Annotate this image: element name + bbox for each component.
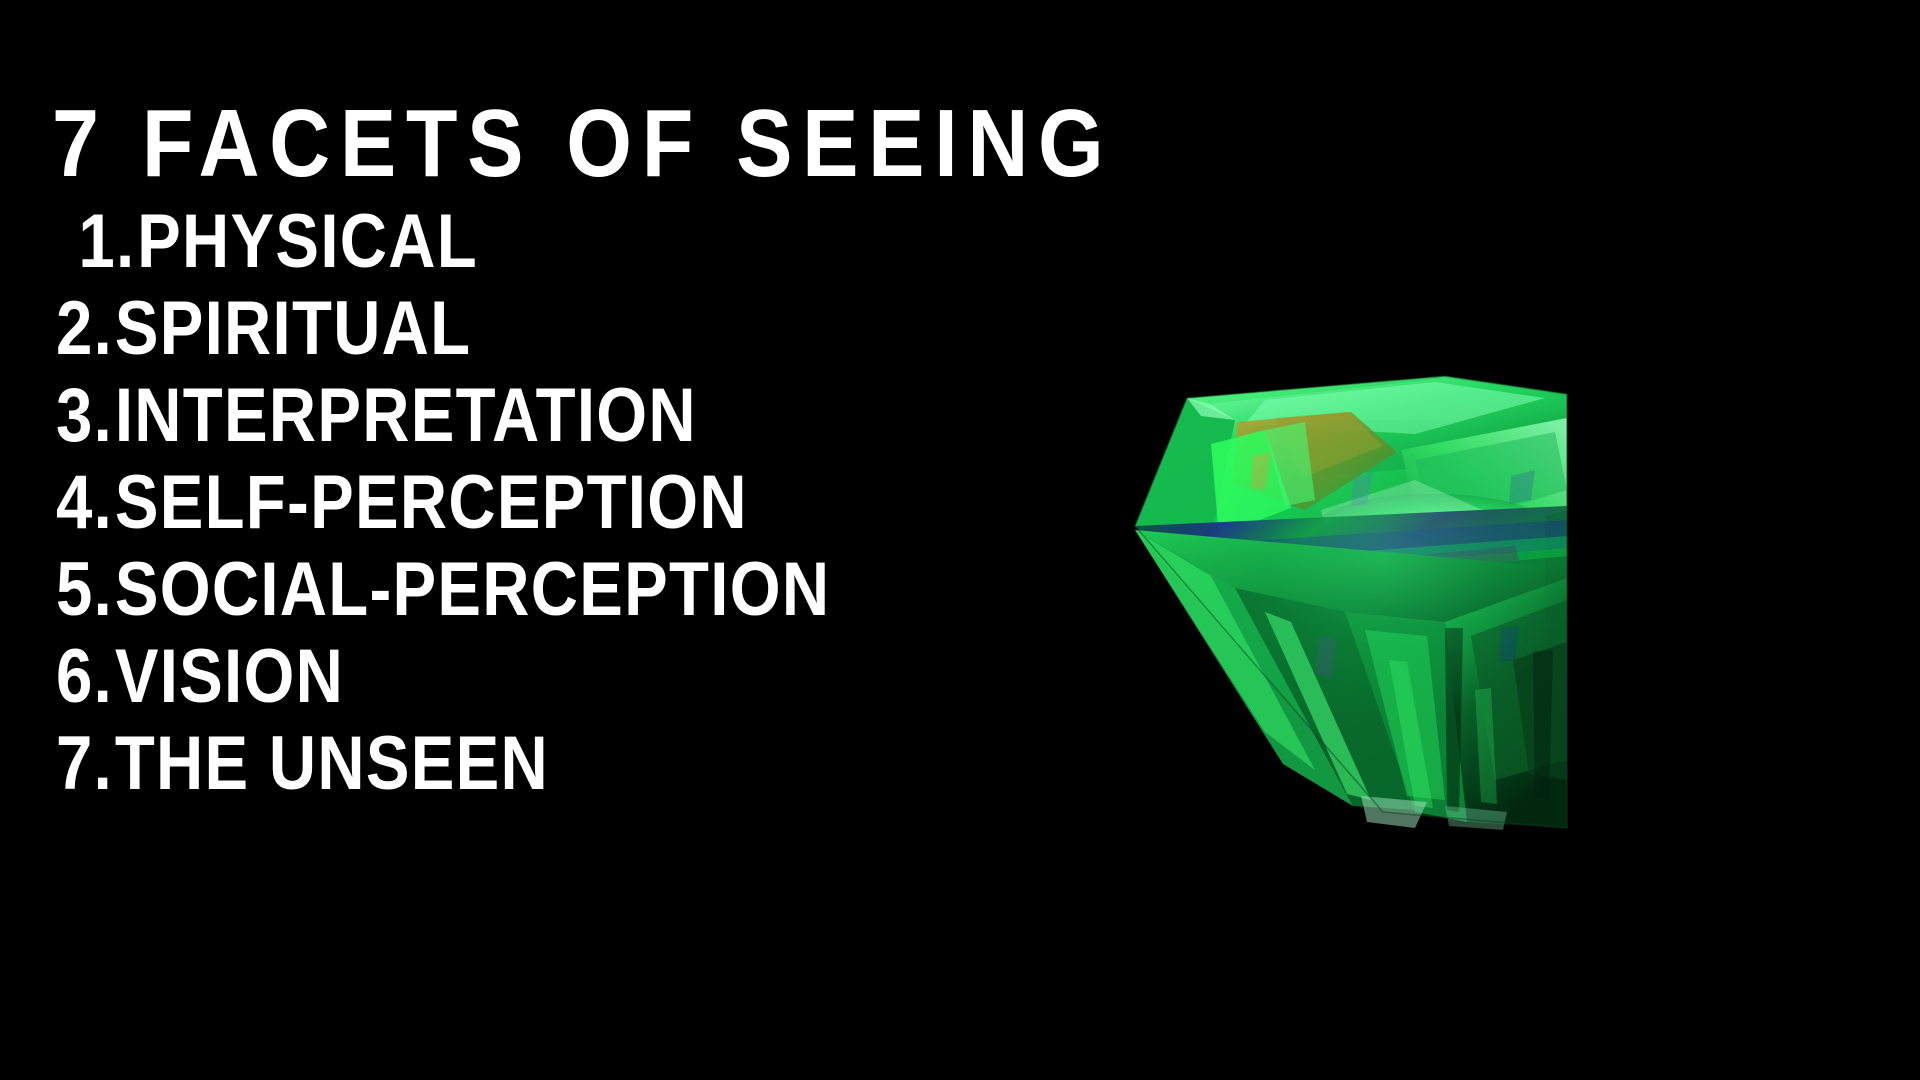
list-item-label: VISION: [115, 633, 344, 720]
page-title: 7 FACETS OF SEEING: [52, 94, 1113, 195]
list-item-label: SOCIAL-PERCEPTION: [115, 546, 831, 633]
list-item-label: PHYSICAL: [137, 198, 478, 285]
list-item-number: 2.: [56, 285, 113, 372]
gem-pavilion: [1135, 530, 1567, 830]
list-item-number: 1.: [78, 198, 135, 285]
list-item-label: INTERPRETATION: [115, 372, 697, 459]
list-item: 7. THE UNSEEN: [56, 720, 830, 807]
list-item: 1. PHYSICAL: [56, 198, 830, 285]
list-item: 3. INTERPRETATION: [56, 372, 830, 459]
list-item-label: THE UNSEEN: [115, 720, 549, 807]
list-item: 5. SOCIAL-PERCEPTION: [56, 546, 830, 633]
slide-canvas: 7 FACETS OF SEEING 1. PHYSICAL 2. SPIRIT…: [0, 0, 1920, 1080]
list-item-label: SPIRITUAL: [115, 285, 472, 372]
list-item-number: 5.: [56, 546, 113, 633]
facet-list: 1. PHYSICAL 2. SPIRITUAL 3. INTERPRETATI…: [56, 198, 956, 807]
list-item-number: 3.: [56, 372, 113, 459]
list-item: 2. SPIRITUAL: [56, 285, 830, 372]
list-item-number: 4.: [56, 459, 113, 546]
list-item: 4. SELF-PERCEPTION: [56, 459, 830, 546]
list-item-label: SELF-PERCEPTION: [115, 459, 748, 546]
list-item-number: 6.: [56, 633, 113, 720]
green-emerald-gem-icon: [1115, 360, 1575, 830]
gem-image: [1115, 360, 1575, 830]
list-item: 6. VISION: [56, 633, 830, 720]
list-item-number: 7.: [56, 720, 113, 807]
